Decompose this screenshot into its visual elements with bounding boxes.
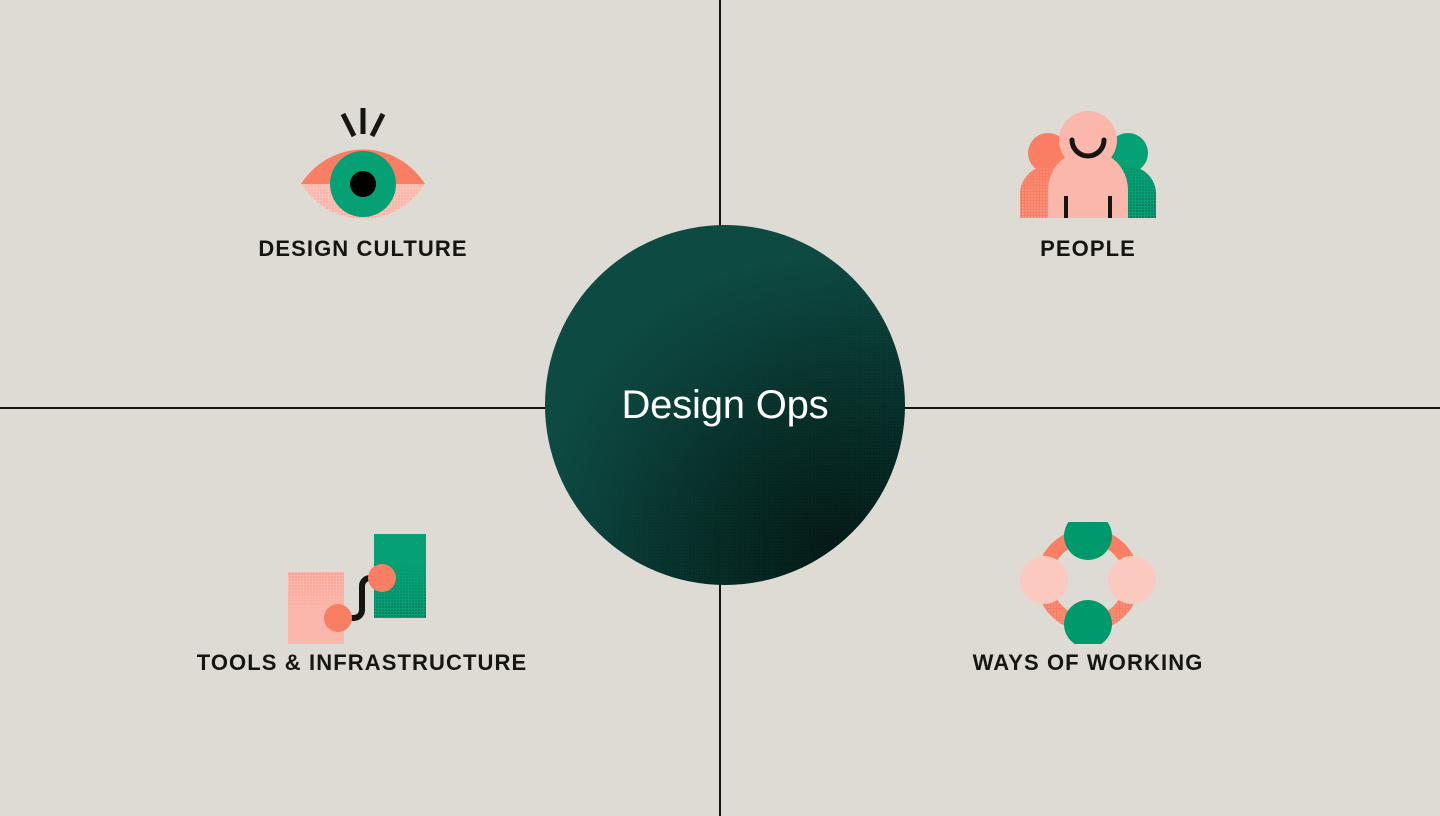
flow-node-left — [1020, 556, 1068, 604]
center-hub: Design Ops — [545, 225, 905, 585]
eye-pupil — [350, 171, 376, 197]
label-people: PEOPLE — [1040, 236, 1136, 262]
quadrant-ways-of-working[interactable]: WAYS OF WORKING — [958, 522, 1218, 676]
label-ways-of-working: WAYS OF WORKING — [973, 650, 1204, 676]
flow-node-right — [1108, 556, 1156, 604]
quadrant-tools-infrastructure[interactable]: TOOLS & INFRASTRUCTURE — [178, 522, 546, 676]
people-group-icon — [1010, 108, 1166, 220]
label-tools-infrastructure: TOOLS & INFRASTRUCTURE — [197, 650, 528, 676]
eyelash-strokes — [343, 108, 383, 136]
quadrant-people[interactable]: PEOPLE — [1010, 108, 1166, 262]
quadrant-design-culture[interactable]: DESIGN CULTURE — [245, 108, 481, 262]
circular-flow-icon — [958, 522, 1218, 634]
label-design-culture: DESIGN CULTURE — [258, 236, 467, 262]
eye-icon — [245, 108, 481, 220]
connected-nodes-icon — [178, 522, 546, 634]
connector-node-upper — [368, 564, 396, 592]
hub-label: Design Ops — [622, 383, 829, 428]
connector-node-lower — [324, 604, 352, 632]
flow-node-bottom — [1064, 600, 1112, 644]
person-center-head — [1059, 111, 1117, 169]
flow-node-top — [1064, 522, 1112, 560]
designops-diagram: Design Ops — [0, 0, 1440, 816]
